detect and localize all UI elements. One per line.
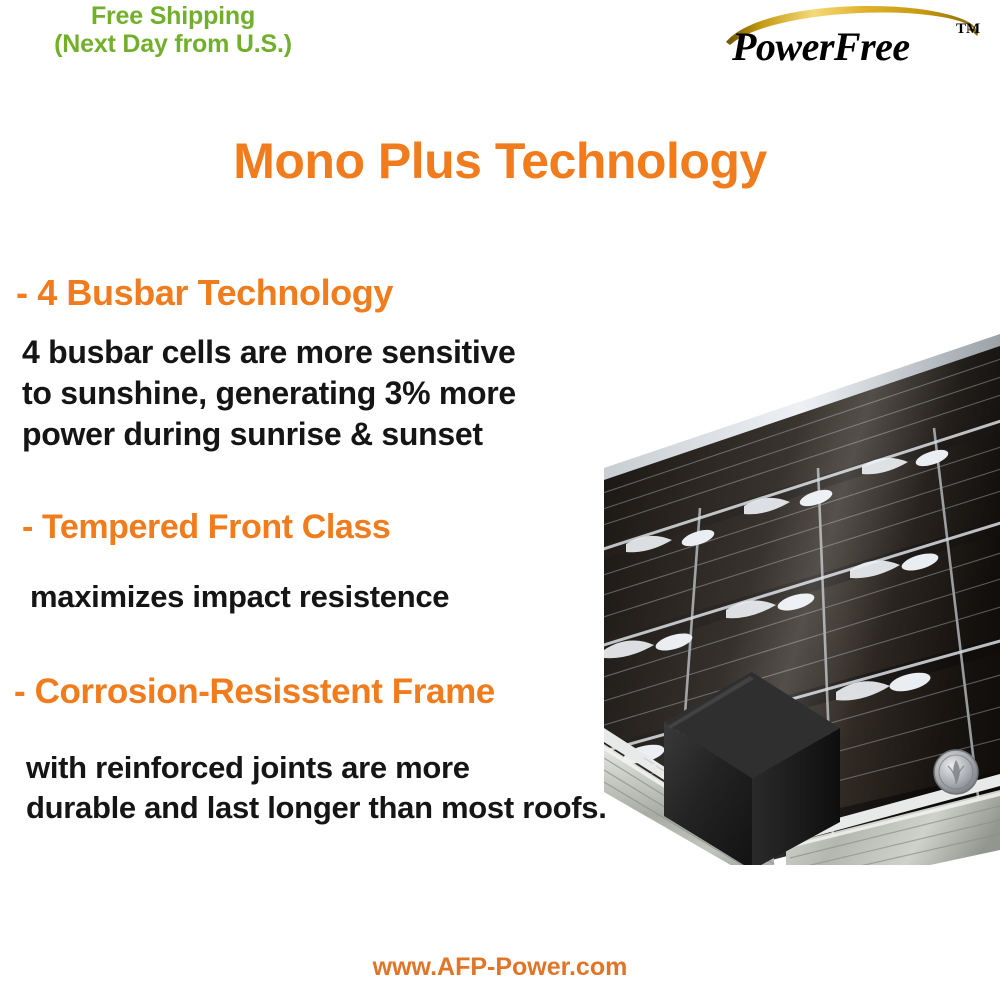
- feature-heading-frame: - Corrosion-Resisstent Frame: [14, 672, 495, 712]
- free-shipping-line-2: (Next Day from U.S.): [8, 30, 338, 58]
- feature-body-tempered-glass: maximizes impact resistence: [30, 577, 449, 617]
- free-shipping-line-1: Free Shipping: [8, 2, 338, 30]
- solar-panel-product-photo: [604, 330, 1000, 865]
- powerfree-logo: PowerFree TM: [714, 2, 994, 72]
- page-title: Mono Plus Technology: [0, 132, 1000, 190]
- logo-wordmark: PowerFree: [731, 24, 910, 69]
- logo-trademark: TM: [956, 21, 980, 37]
- scale-coin: [934, 750, 978, 794]
- feature-body-busbar: 4 busbar cells are more sensitive to sun…: [22, 332, 516, 455]
- feature-body-frame: with reinforced joints are more durable …: [26, 748, 607, 827]
- free-shipping-banner: Free Shipping (Next Day from U.S.): [8, 2, 338, 58]
- feature-heading-busbar: - 4 Busbar Technology: [16, 272, 393, 314]
- feature-heading-tempered-glass: - Tempered Front Class: [22, 508, 390, 547]
- footer-website-url[interactable]: www.AFP-Power.com: [0, 953, 1000, 982]
